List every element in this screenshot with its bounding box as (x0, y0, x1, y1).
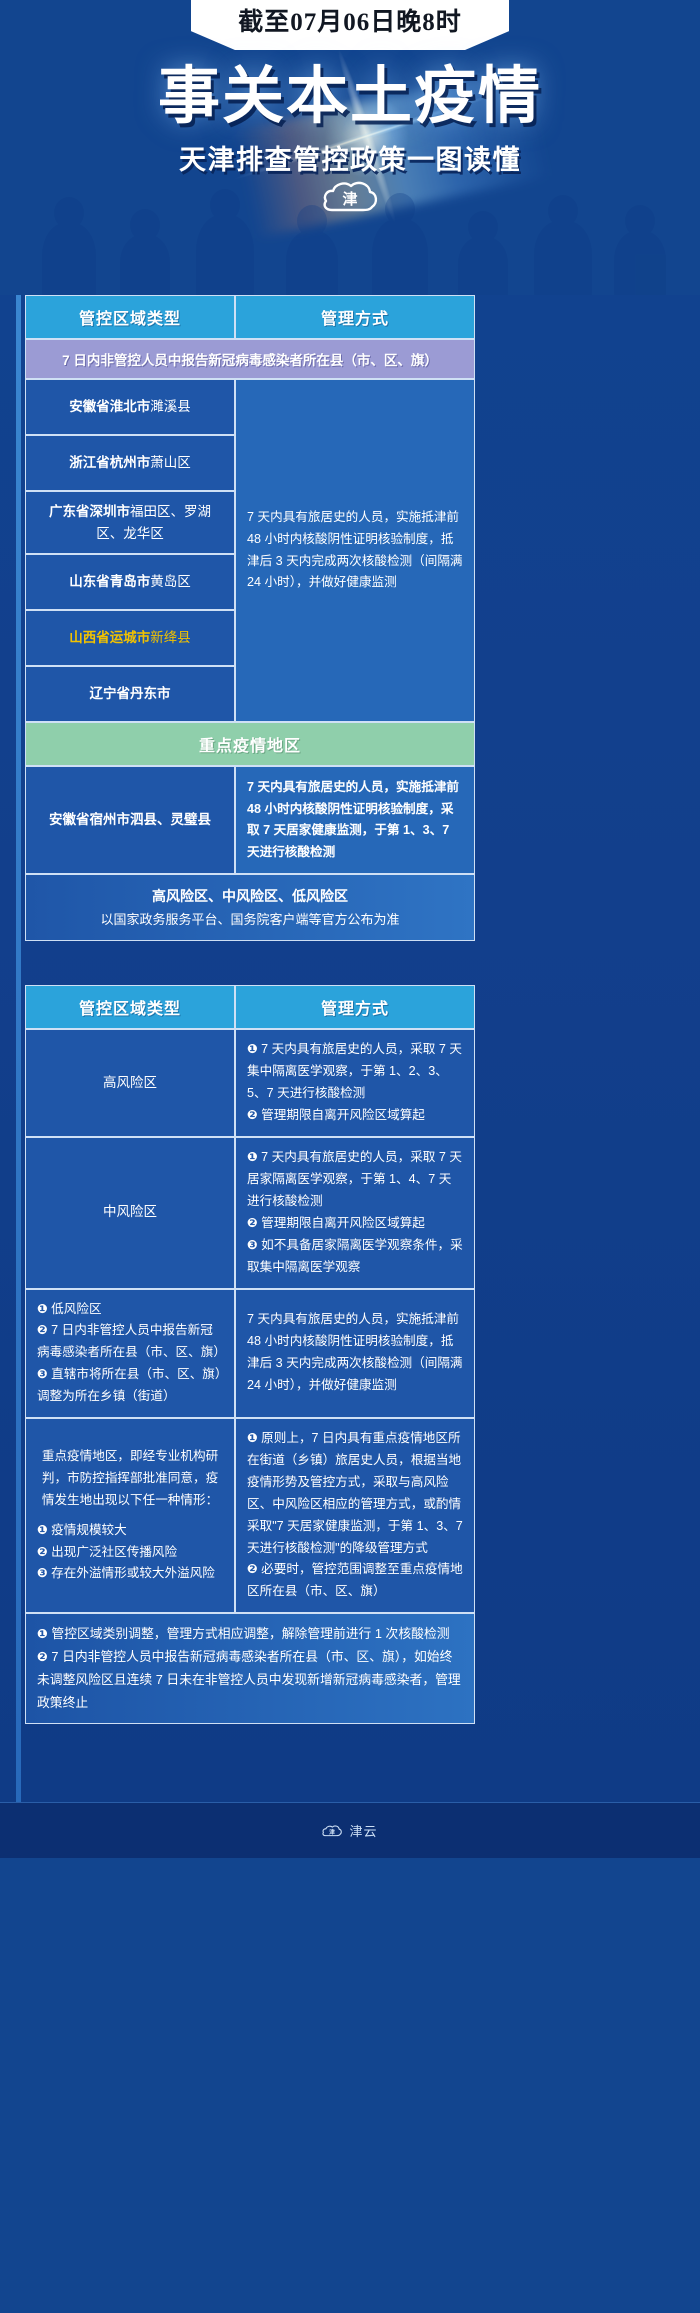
list-bullet-3: ❸ (247, 1238, 258, 1252)
table-row: ❶ 低风险区 ❷ 7 日内非管控人员中报告新冠病毒感染者所在县（市、区、旗） ❸… (25, 1289, 475, 1419)
table-header-row: 管控区域类型 管理方式 (25, 985, 475, 1029)
notice-risk-levels: 高风险区、中风险区、低风险区 以国家政务服务平台、国务院客户端等官方公布为准 (25, 874, 475, 941)
region-suffix-1: 萧山区 (150, 455, 191, 470)
table-row: 安徽省宿州市泗县、灵璧县 7 天内具有旅居史的人员，实施抵津前 48 小时内核酸… (25, 766, 475, 874)
page-title: 事关本土疫情 (0, 64, 700, 131)
region-prefix-2: 广东省深圳市 (49, 504, 130, 519)
list-text-1: 7 天内具有旅居史的人员，采取 7 天居家隔离医学观察，于第 1、4、7 天进行… (247, 1150, 462, 1208)
table-header-row: 管控区域类型 管理方式 (25, 295, 475, 339)
list-text-1: 7 天内具有旅居史的人员，采取 7 天集中隔离医学观察，于第 1、2、3、5、7… (247, 1042, 462, 1100)
list-bullet-2: ❷ (247, 1216, 258, 1230)
policy-cell-general: 7 天内具有旅居史的人员，实施抵津前 48 小时内核酸阴性证明核验制度，抵津后 … (235, 379, 475, 722)
list-text-3: 存在外溢情形或较大外溢风险 (51, 1566, 215, 1580)
policy-item: ❷ 管理期限自离开风险区域算起 (247, 1213, 463, 1235)
table-row: 高风险区 ❶ 7 天内具有旅居史的人员，采取 7 天集中隔离医学观察，于第 1、… (25, 1029, 475, 1137)
policy-item: ❷ 必要时，管控范围调整至重点疫情地区所在县（市、区、旗） (247, 1559, 463, 1603)
table-row: 中风险区 ❶ 7 天内具有旅居史的人员，采取 7 天居家隔离医学观察，于第 1、… (25, 1137, 475, 1288)
list-text-1: 低风险区 (51, 1302, 101, 1316)
footer-bar: 津 津云 (0, 1802, 700, 1858)
policy-item: ❸ 如不具备居家隔离医学观察条件，采取集中隔离医学观察 (247, 1235, 463, 1279)
svg-text:津: 津 (330, 1828, 336, 1836)
list-bullet-2: ❷ (37, 1649, 48, 1664)
band-label-key-epidemic-areas: 重点疫情地区 (25, 722, 475, 766)
list-text-2: 7 日内非管控人员中报告新冠病毒感染者所在县（市、区、旗） (37, 1323, 226, 1359)
table-risk-level-policies: 管控区域类型 管理方式 高风险区 ❶ 7 天内具有旅居史的人员，采取 7 天集中… (25, 985, 475, 1724)
table-band-row-key: 重点疫情地区 (25, 722, 475, 766)
risk-policy-medium: ❶ 7 天内具有旅居史的人员，采取 7 天居家隔离医学观察，于第 1、4、7 天… (235, 1137, 475, 1288)
region-cell-4-new: 山西省运城市新绛县 (25, 610, 235, 666)
notice-line-1: 高风险区、中风险区、低风险区 (37, 884, 463, 909)
list-bullet-2: ❷ (37, 1323, 48, 1337)
table-row: 安徽省淮北市濉溪县 7 天内具有旅居史的人员，实施抵津前 48 小时内核酸阴性证… (25, 379, 475, 435)
band-label-reported-counties: 7 日内非管控人员中报告新冠病毒感染者所在县（市、区、旗） (25, 339, 475, 379)
list-text-3: 如不具备居家隔离医学观察条件，采取集中隔离医学观察 (247, 1238, 463, 1274)
list-bullet-2: ❷ (37, 1545, 48, 1559)
list-bullet-1: ❶ (247, 1431, 258, 1445)
region-cell-0: 安徽省淮北市濉溪县 (25, 379, 235, 435)
list-text-1: 管控区域类别调整，管理方式相应调整，解除管理前进行 1 次核酸检测 (51, 1626, 449, 1641)
column-header-management: 管理方式 (235, 295, 475, 339)
list-text-2: 出现广泛社区传播风险 (51, 1545, 177, 1559)
risk-policy-high: ❶ 7 天内具有旅居史的人员，采取 7 天集中隔离医学观察，于第 1、2、3、5… (235, 1029, 475, 1137)
list-text-1: 疫情规模较大 (51, 1523, 127, 1537)
list-bullet-1: ❶ (247, 1150, 258, 1164)
list-bullet-1: ❶ (37, 1523, 48, 1537)
risk-policy-low: 7 天内具有旅居史的人员，实施抵津前 48 小时内核酸阴性证明核验制度，抵津后 … (235, 1289, 475, 1419)
column-header-region-type: 管控区域类型 (25, 295, 235, 339)
key-area-intro: 重点疫情地区，即经专业机构研判，市防控指挥部批准同意，疫情发生地出现以下任一种情… (37, 1446, 223, 1512)
region-prefix-5: 辽宁省丹东市 (90, 686, 171, 701)
list-bullet-3: ❸ (37, 1367, 48, 1381)
policy-cell-key: 7 天内具有旅居史的人员，实施抵津前 48 小时内核酸阴性证明核验制度，采取 7… (235, 766, 475, 874)
list-text-1: 原则上，7 日内具有重点疫情地区所在街道（乡镇）旅居史人员，根据当地疫情形势及管… (247, 1431, 463, 1555)
table-band-row: 7 日内非管控人员中报告新冠病毒感染者所在县（市、区、旗） (25, 339, 475, 379)
risk-type-low: ❶ 低风险区 ❷ 7 日内非管控人员中报告新冠病毒感染者所在县（市、区、旗） ❸… (25, 1289, 235, 1419)
section-spacer (25, 959, 675, 985)
region-cell-1: 浙江省杭州市萧山区 (25, 435, 235, 491)
policy-item: ❷ 管理期限自离开风险区域算起 (247, 1105, 463, 1127)
region-cell-5: 辽宁省丹东市 (25, 666, 235, 722)
list-bullet-2: ❷ (247, 1562, 258, 1576)
footer-brand-label: 津云 (349, 1821, 377, 1840)
table-risk-regions: 管控区域类型 管理方式 7 日内非管控人员中报告新冠病毒感染者所在县（市、区、旗… (25, 295, 475, 941)
list-text-2: 管理期限自离开风险区域算起 (261, 1108, 425, 1122)
type-item: ❶ 低风险区 (37, 1299, 223, 1321)
region-prefix-1: 浙江省杭州市 (69, 455, 150, 470)
region-suffix-3: 黄岛区 (150, 574, 191, 589)
footer-jin-cloud-logo-icon: 津 (322, 1823, 342, 1839)
svg-text:津: 津 (342, 190, 357, 208)
type-item: ❷ 7 日内非管控人员中报告新冠病毒感染者所在县（市、区、旗） (37, 1320, 223, 1364)
type-item: ❶ 疫情规模较大 (37, 1520, 223, 1542)
type-item: ❸ 直辖市将所在县（市、区、旗）调整为所在乡镇（街道） (37, 1364, 223, 1408)
risk-policy-key-area: ❶ 原则上，7 日内具有重点疫情地区所在街道（乡镇）旅居史人员，根据当地疫情形势… (235, 1418, 475, 1613)
notice-line-2: 以国家政务服务平台、国务院客户端等官方公布为准 (37, 909, 463, 932)
table-notice-row: 高风险区、中风险区、低风险区 以国家政务服务平台、国务院客户端等官方公布为准 (25, 874, 475, 941)
list-bullet-2: ❷ (247, 1108, 258, 1122)
type-item: ❷ 出现广泛社区传播风险 (37, 1542, 223, 1564)
policy-item: ❶ 7 天内具有旅居史的人员，采取 7 天居家隔离医学观察，于第 1、4、7 天… (247, 1147, 463, 1213)
risk-type-high: 高风险区 (25, 1029, 235, 1137)
type-item: ❸ 存在外溢情形或较大外溢风险 (37, 1563, 223, 1585)
hero-banner: 截至07月06日晚8时 事关本土疫情 天津排查管控政策一图读懂 津 (0, 0, 700, 295)
list-text-2: 管理期限自离开风险区域算起 (261, 1216, 425, 1230)
region-cell-3: 山东省青岛市黄岛区 (25, 554, 235, 610)
region-cell-key: 安徽省宿州市泗县、灵璧县 (25, 766, 235, 874)
region-cell-2: 广东省深圳市福田区、罗湖区、龙华区 (25, 491, 235, 554)
region-suffix-4: 新绛县 (150, 630, 191, 645)
page-subtitle: 天津排查管控政策一图读懂 (0, 138, 700, 177)
footnote-item: ❷ 7 日内非管控人员中报告新冠病毒感染者所在县（市、区、旗），如始终未调整风险… (37, 1646, 463, 1714)
bottom-spacer (25, 1742, 675, 1802)
content-area: 管控区域类型 管理方式 7 日内非管控人员中报告新冠病毒感染者所在县（市、区、旗… (0, 295, 700, 1802)
list-text-3: 直辖市将所在县（市、区、旗）调整为所在乡镇（街道） (37, 1367, 221, 1403)
list-bullet-1: ❶ (247, 1042, 258, 1056)
region-suffix-0: 濉溪县 (150, 399, 191, 414)
policy-item: ❶ 原则上，7 日内具有重点疫情地区所在街道（乡镇）旅居史人员，根据当地疫情形势… (247, 1428, 463, 1559)
list-text-2: 7 日内非管控人员中报告新冠病毒感染者所在县（市、区、旗），如始终未调整风险区且… (37, 1649, 461, 1710)
policy-item: ❶ 7 天内具有旅居史的人员，采取 7 天集中隔离医学观察，于第 1、2、3、5… (247, 1039, 463, 1105)
footnotes-cell: ❶ 管控区域类别调整，管理方式相应调整，解除管理前进行 1 次核酸检测 ❷ 7 … (25, 1613, 475, 1724)
region-prefix-4: 山西省运城市 (69, 630, 150, 645)
table-footnote-row: ❶ 管控区域类别调整，管理方式相应调整，解除管理前进行 1 次核酸检测 ❷ 7 … (25, 1613, 475, 1724)
list-bullet-1: ❶ (37, 1302, 48, 1316)
footnote-item: ❶ 管控区域类别调整，管理方式相应调整，解除管理前进行 1 次核酸检测 (37, 1623, 463, 1646)
risk-type-key-area: 重点疫情地区，即经专业机构研判，市防控指挥部批准同意，疫情发生地出现以下任一种情… (25, 1418, 235, 1613)
date-banner: 截至07月06日晚8时 (191, 0, 509, 50)
column-header-management-2: 管理方式 (235, 985, 475, 1029)
list-bullet-3: ❸ (37, 1566, 48, 1580)
jin-cloud-logo-icon: 津 (322, 176, 378, 218)
list-text-2: 必要时，管控范围调整至重点疫情地区所在县（市、区、旗） (247, 1562, 463, 1598)
region-prefix-3: 山东省青岛市 (69, 574, 150, 589)
table-row: 重点疫情地区，即经专业机构研判，市防控指挥部批准同意，疫情发生地出现以下任一种情… (25, 1418, 475, 1613)
region-prefix-0: 安徽省淮北市 (69, 399, 150, 414)
risk-type-medium: 中风险区 (25, 1137, 235, 1288)
column-header-region-type-2: 管控区域类型 (25, 985, 235, 1029)
list-bullet-1: ❶ (37, 1626, 48, 1641)
left-accent-rail (16, 295, 21, 1802)
